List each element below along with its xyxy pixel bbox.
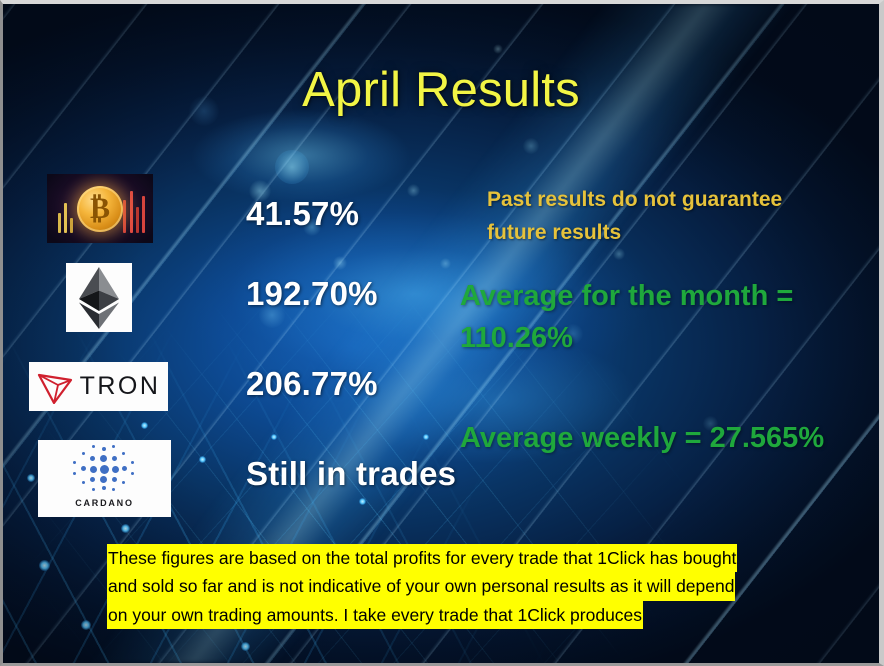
past-results-disclaimer: Past results do not guarantee future res…: [487, 184, 817, 249]
page-title: April Results: [3, 62, 879, 118]
ethereum-diamond-icon: [78, 267, 120, 329]
average-month-text: Average for the month = 110.26%: [460, 276, 870, 360]
bitcoin-coin-icon: ₿: [77, 186, 123, 232]
tron-triangle-icon: [37, 370, 73, 404]
result-value-ethereum: 192.70%: [246, 275, 378, 313]
bottom-note-line: and sold so far and is not indicative of…: [107, 572, 735, 600]
slide-content: April Results ₿: [3, 4, 879, 663]
average-weekly-text: Average weekly = 27.565%: [460, 418, 870, 460]
result-value-cardano: Still in trades: [246, 455, 456, 493]
ethereum-logo: [66, 263, 132, 332]
bottom-note-line: on your own trading amounts. I take ever…: [107, 601, 643, 629]
bottom-note: These figures are based on the total pro…: [107, 544, 859, 629]
bottom-note-line: These figures are based on the total pro…: [107, 544, 737, 572]
result-value-bitcoin: 41.57%: [246, 195, 359, 233]
result-value-tron: 206.77%: [246, 365, 378, 403]
bitcoin-logo: ₿: [47, 174, 153, 243]
slide-canvas: April Results ₿: [0, 0, 884, 666]
cardano-wordmark: CARDANO: [38, 498, 171, 508]
tron-logo: TRON: [29, 362, 168, 411]
tron-wordmark: TRON: [80, 374, 161, 399]
cardano-logo: CARDANO: [38, 440, 171, 517]
